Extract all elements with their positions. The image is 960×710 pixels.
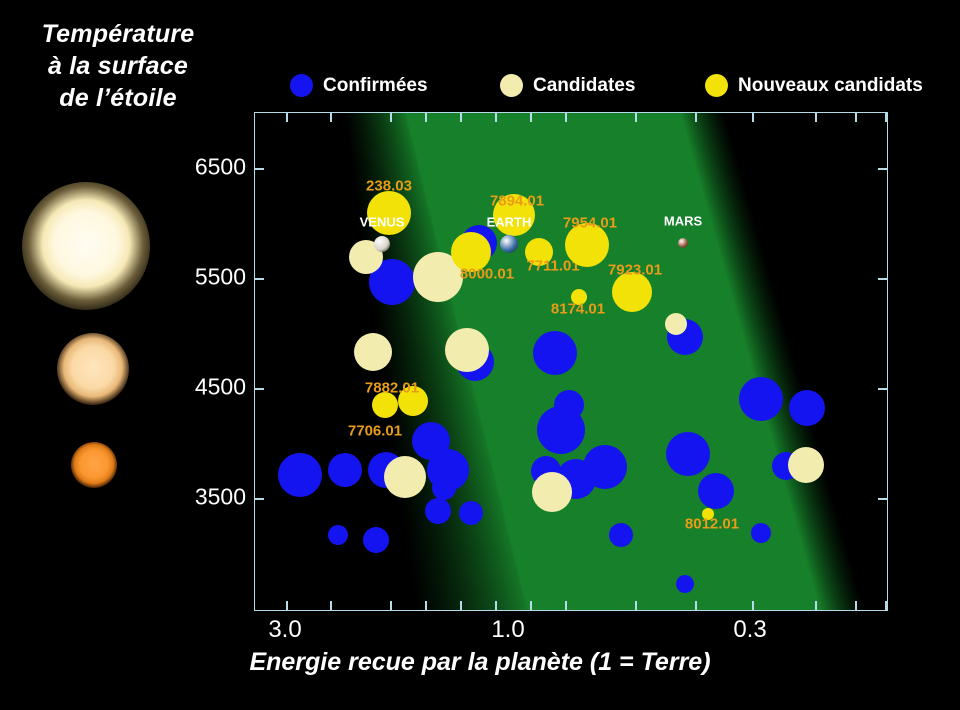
data-point-confirmed[interactable] [533, 331, 577, 375]
legend-swatch-new-candidate [705, 74, 728, 97]
data-point-candidate[interactable] [532, 472, 572, 512]
x-tick [530, 601, 532, 610]
data-point-confirmed[interactable] [537, 406, 585, 454]
y-axis-tick-labels: 6500550045003500 [130, 112, 246, 611]
x-tick [635, 601, 637, 610]
x-tick [752, 601, 754, 610]
x-tick [460, 113, 462, 122]
y-tick [878, 168, 887, 170]
data-point-label: 8000.01 [460, 266, 514, 283]
x-axis-title: Energie recue par la planète (1 = Terre) [0, 648, 960, 677]
x-tick [815, 113, 817, 122]
legend-item-confirmed[interactable]: Confirmées [290, 74, 428, 97]
data-point-confirmed[interactable] [328, 453, 362, 487]
data-point-confirmed[interactable] [739, 377, 783, 421]
x-tick [286, 113, 288, 122]
data-point-confirmed[interactable] [328, 525, 348, 545]
x-tick [815, 601, 817, 610]
x-tick [695, 113, 697, 122]
y-tick [255, 168, 264, 170]
y-tick [878, 498, 887, 500]
data-point-confirmed[interactable] [278, 453, 322, 497]
x-tick [695, 601, 697, 610]
solar-body-label-mars: MARS [664, 214, 702, 229]
data-point-confirmed[interactable] [583, 445, 627, 489]
y-tick-label: 4500 [195, 374, 246, 401]
legend-item-candidate[interactable]: Candidates [500, 74, 635, 97]
title-line-1: Température [0, 18, 236, 50]
data-point-candidate[interactable] [445, 328, 489, 372]
legend: Confirmées Candidates Nouveaux candidats [290, 74, 950, 106]
data-point-label: 8012.01 [685, 516, 739, 533]
legend-swatch-candidate [500, 74, 523, 97]
data-point-confirmed[interactable] [363, 527, 389, 553]
data-point-label: 7706.01 [348, 423, 402, 440]
solar-body-label-earth: EARTH [487, 215, 532, 230]
x-tick [425, 113, 427, 122]
data-point-candidate[interactable] [665, 313, 687, 335]
x-tick [495, 113, 497, 122]
y-tick-label: 6500 [195, 154, 246, 181]
data-point-confirmed[interactable] [751, 523, 771, 543]
x-tick [460, 601, 462, 610]
title-line-3: de l’étoile [0, 82, 236, 114]
legend-label-candidate: Candidates [533, 75, 635, 97]
plot-area: 238.038000.017894.017711.017954.017923.0… [254, 112, 888, 611]
y-tick-label: 3500 [195, 484, 246, 511]
data-point-label: 7882.01 [365, 380, 419, 397]
solar-body-label-venus: VENUS [360, 215, 405, 230]
data-point-label: 238.03 [366, 178, 412, 195]
data-point-confirmed[interactable] [676, 575, 694, 593]
data-point-candidate[interactable] [354, 333, 392, 371]
data-point-candidate[interactable] [788, 447, 824, 483]
data-point-confirmed[interactable] [789, 390, 825, 426]
data-point-label: 7923.01 [608, 262, 662, 279]
x-tick-label: 1.0 [491, 616, 524, 644]
warm-star-icon [57, 333, 129, 405]
legend-label-confirmed: Confirmées [323, 75, 428, 97]
x-tick [855, 113, 857, 122]
x-tick [752, 113, 754, 122]
x-tick [565, 601, 567, 610]
data-point-confirmed[interactable] [698, 473, 734, 509]
x-tick [286, 601, 288, 610]
legend-label-new-candidate: Nouveaux candidats [738, 75, 923, 97]
x-tick [390, 601, 392, 610]
legend-item-new-candidate[interactable]: Nouveaux candidats [705, 74, 923, 97]
data-point-confirmed[interactable] [425, 498, 451, 524]
x-tick-label: 3.0 [268, 616, 301, 644]
page-title: Température à la surface de l’étoile [0, 18, 236, 114]
x-tick [635, 113, 637, 122]
x-tick [425, 601, 427, 610]
data-point-label: 7894.01 [490, 193, 544, 210]
y-tick [878, 388, 887, 390]
data-point-candidate[interactable] [384, 456, 426, 498]
x-tick [330, 113, 332, 122]
title-line-2: à la surface [0, 50, 236, 82]
data-point-label: 8174.01 [551, 301, 605, 318]
x-tick [390, 113, 392, 122]
solar-body-venus [374, 236, 390, 252]
y-tick [255, 498, 264, 500]
x-tick [565, 113, 567, 122]
y-tick-label: 5500 [195, 264, 246, 291]
cool-star-icon [71, 442, 117, 488]
x-tick [530, 113, 532, 122]
y-tick [255, 388, 264, 390]
data-point-confirmed[interactable] [609, 523, 633, 547]
data-point-confirmed[interactable] [459, 501, 483, 525]
legend-swatch-confirmed [290, 74, 313, 97]
data-point-confirmed[interactable] [666, 432, 710, 476]
y-tick [255, 278, 264, 280]
data-point-confirmed[interactable] [432, 476, 456, 500]
x-tick-label: 0.3 [733, 616, 766, 644]
solar-body-earth [500, 235, 518, 253]
x-tick [855, 601, 857, 610]
x-tick [495, 601, 497, 610]
y-tick [878, 278, 887, 280]
x-tick [885, 113, 887, 122]
x-tick [885, 601, 887, 610]
x-tick [330, 601, 332, 610]
x-axis-tick-labels: 3.01.00.3 [254, 616, 888, 648]
solar-body-mars [678, 238, 688, 248]
data-point-label: 7954.01 [563, 215, 617, 232]
chart-canvas: Température à la surface de l’étoile Con… [0, 0, 960, 710]
